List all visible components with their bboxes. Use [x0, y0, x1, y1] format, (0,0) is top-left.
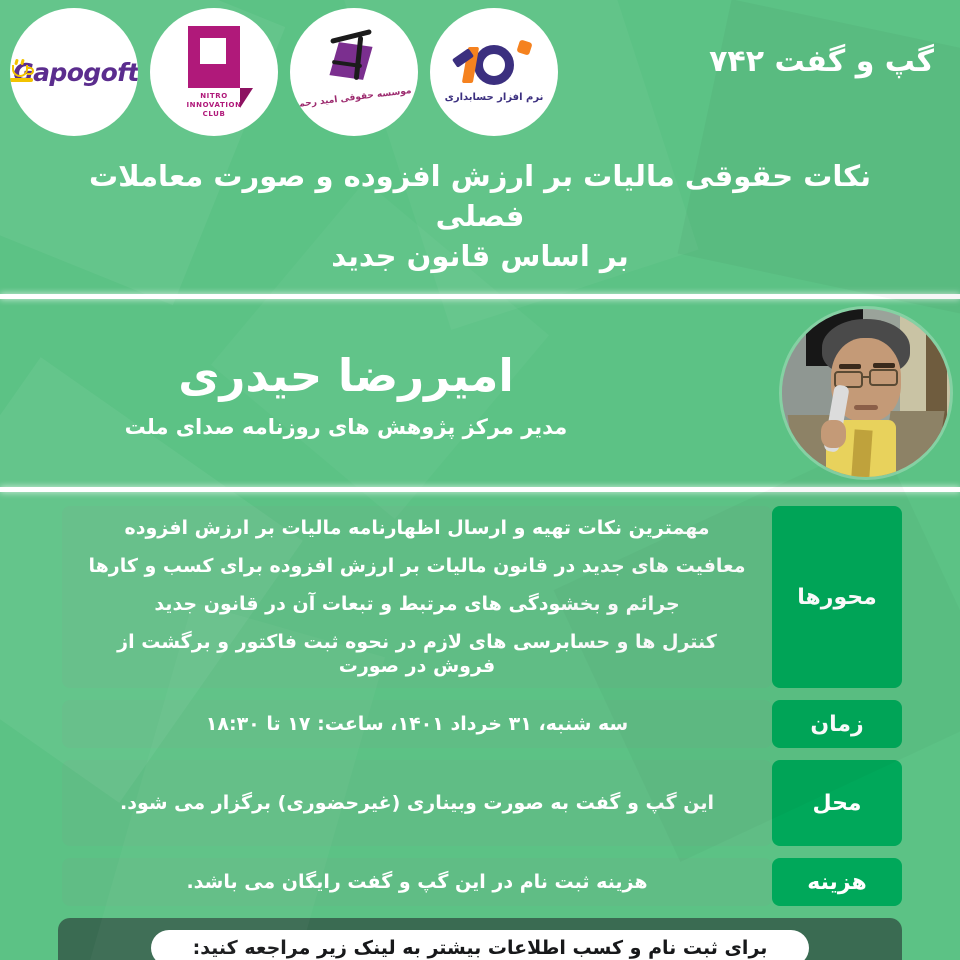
cost-value-cell: هزینه ثبت نام در این گپ و گفت رایگان می …	[62, 858, 772, 906]
event-title-band: نکات حقوقی مالیات بر ارزش افزوده و صورت …	[0, 150, 960, 294]
omid-rahmat-haq-logo[interactable]: موسسه حقوقی امید رحمت حق	[290, 8, 418, 136]
place-value-cell: این گپ و گفت به صورت وبیناری (غیرحضوری) …	[62, 760, 772, 846]
farda-wordmark: نرم افزار حسابداری	[445, 92, 544, 103]
nitro-line-1: NITRO	[200, 92, 228, 101]
speaker-avatar	[782, 309, 950, 477]
time-value: سه شنبه، ۳۱ خرداد ۱۴۰۱، ساعت: ۱۷ تا ۱۸:۳…	[86, 712, 748, 736]
time-label: زمان	[772, 700, 902, 748]
place-value: این گپ و گفت به صورت وبیناری (غیرحضوری) …	[86, 791, 748, 815]
nitro-line-2: INNOVATION	[186, 101, 241, 110]
registration-cta[interactable]: برای ثبت نام و کسب اطلاعات بیشتر به لینک…	[151, 930, 810, 960]
nitro-innovation-club-logo[interactable]: NITRO INNOVATION CLUB	[150, 8, 278, 136]
speaker-name: امیررضا حیدری	[30, 347, 662, 405]
sponsor-logos: Gapogoft NITRO INNOVATION CLUB موسسه حقو…	[10, 8, 558, 136]
table-row-cost: هزینه هزینه ثبت نام در این گپ و گفت رایگ…	[58, 858, 902, 906]
poster-header: Gapogoft NITRO INNOVATION CLUB موسسه حقو…	[0, 0, 960, 150]
topics-value: مهمترین نکات تهیه و ارسال اظهارنامه مالی…	[62, 506, 772, 688]
speaker-role: مدیر مرکز پژوهش های روزنامه صدای ملت	[30, 415, 662, 439]
table-row-time: زمان سه شنبه، ۳۱ خرداد ۱۴۰۱، ساعت: ۱۷ تا…	[58, 700, 902, 748]
speaker-text-block: امیررضا حیدری مدیر مرکز پژوهش های روزنام…	[0, 347, 692, 439]
event-details-table: محورها مهمترین نکات تهیه و ارسال اظهارنا…	[0, 492, 960, 906]
series-number-label: گپ و گفت ۷۴۲	[709, 44, 934, 79]
table-row-place: محل این گپ و گفت به صورت وبیناری (غیرحضو…	[58, 760, 902, 846]
speaker-section: امیررضا حیدری مدیر مرکز پژوهش های روزنام…	[0, 299, 960, 487]
place-label: محل	[772, 760, 902, 846]
calligraphy-icon	[326, 32, 382, 88]
cost-value: هزینه ثبت نام در این گپ و گفت رایگان می …	[86, 870, 748, 894]
event-title-line-1: نکات حقوقی مالیات بر ارزش افزوده و صورت …	[89, 159, 871, 233]
poster-footer: برای ثبت نام و کسب اطلاعات بیشتر به لینک…	[58, 918, 902, 960]
nitro-line-3: CLUB	[203, 110, 226, 119]
topic-item: مهمترین نکات تهیه و ارسال اظهارنامه مالی…	[86, 516, 748, 540]
farda-mark-icon	[455, 41, 533, 89]
webinar-poster: Gapogoft NITRO INNOVATION CLUB موسسه حقو…	[0, 0, 960, 960]
topic-item: کنترل ها و حسابرسی های لازم در نحوه ثبت …	[86, 630, 748, 678]
topics-label: محورها	[772, 506, 902, 688]
topic-item: جرائم و بخشودگی های مرتبط و تبعات آن در …	[86, 592, 748, 616]
topic-item: معافیت های جدید در قانون مالیات بر ارزش …	[86, 554, 748, 578]
gapogoft-logo[interactable]: Gapogoft	[10, 8, 138, 136]
farda-accounting-software-logo[interactable]: نرم افزار حسابداری	[430, 8, 558, 136]
omid-rahmat-haq-wordmark: موسسه حقوقی امید رحمت حق	[290, 85, 418, 120]
cost-label: هزینه	[772, 858, 902, 906]
table-row-topics: محورها مهمترین نکات تهیه و ارسال اظهارنا…	[58, 506, 902, 688]
nitro-square-icon	[188, 26, 240, 88]
time-value-cell: سه شنبه، ۳۱ خرداد ۱۴۰۱، ساعت: ۱۷ تا ۱۸:۳…	[62, 700, 772, 748]
event-title-line-2: بر اساس قانون جدید	[331, 239, 629, 273]
